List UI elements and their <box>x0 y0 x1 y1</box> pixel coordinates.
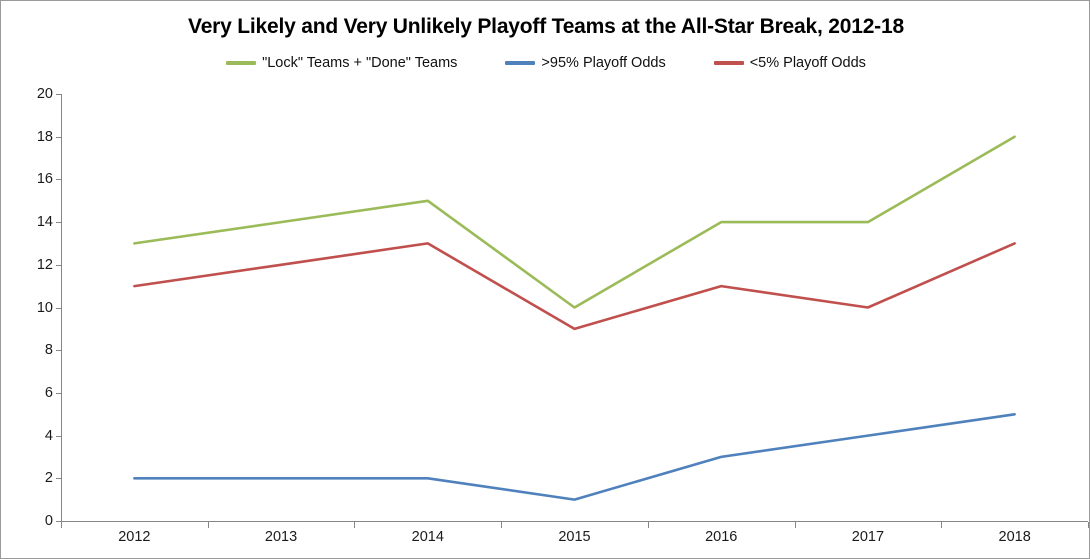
y-tick-label: 18 <box>13 129 53 145</box>
y-axis-line <box>61 94 62 522</box>
y-tick-mark <box>56 94 61 95</box>
series-lines <box>1 1 1090 559</box>
y-tick-label: 12 <box>13 257 53 273</box>
x-tick-mark <box>941 522 942 528</box>
chart-container: Very Likely and Very Unlikely Playoff Te… <box>0 0 1090 559</box>
y-tick-mark <box>56 436 61 437</box>
y-tick-label: 14 <box>13 214 53 230</box>
y-tick-mark <box>56 179 61 180</box>
y-tick-mark <box>56 222 61 223</box>
y-tick-mark <box>56 393 61 394</box>
series-line-2 <box>134 243 1014 329</box>
plot-area: 02468101214161820 2012201320142015201620… <box>1 1 1090 559</box>
y-tick-label: 16 <box>13 171 53 187</box>
x-tick-label: 2013 <box>221 529 341 545</box>
x-tick-mark <box>208 522 209 528</box>
x-tick-label: 2012 <box>74 529 194 545</box>
series-line-1 <box>134 414 1014 499</box>
y-tick-label: 4 <box>13 428 53 444</box>
x-tick-label: 2014 <box>368 529 488 545</box>
y-tick-mark <box>56 350 61 351</box>
x-tick-mark <box>354 522 355 528</box>
y-tick-label: 2 <box>13 470 53 486</box>
x-tick-mark <box>501 522 502 528</box>
y-tick-mark <box>56 137 61 138</box>
x-tick-mark <box>61 522 62 528</box>
x-tick-mark <box>795 522 796 528</box>
y-tick-label: 8 <box>13 342 53 358</box>
x-tick-label: 2015 <box>515 529 635 545</box>
y-tick-mark <box>56 265 61 266</box>
y-tick-label: 0 <box>13 513 53 529</box>
x-tick-label: 2018 <box>955 529 1075 545</box>
y-tick-label: 10 <box>13 300 53 316</box>
x-axis-line <box>61 521 1088 522</box>
x-tick-label: 2017 <box>808 529 928 545</box>
y-tick-label: 6 <box>13 385 53 401</box>
x-tick-mark <box>648 522 649 528</box>
x-tick-mark <box>1088 522 1089 528</box>
y-tick-mark <box>56 478 61 479</box>
x-tick-label: 2016 <box>661 529 781 545</box>
y-tick-mark <box>56 308 61 309</box>
series-line-0 <box>134 137 1014 308</box>
y-tick-label: 20 <box>13 86 53 102</box>
